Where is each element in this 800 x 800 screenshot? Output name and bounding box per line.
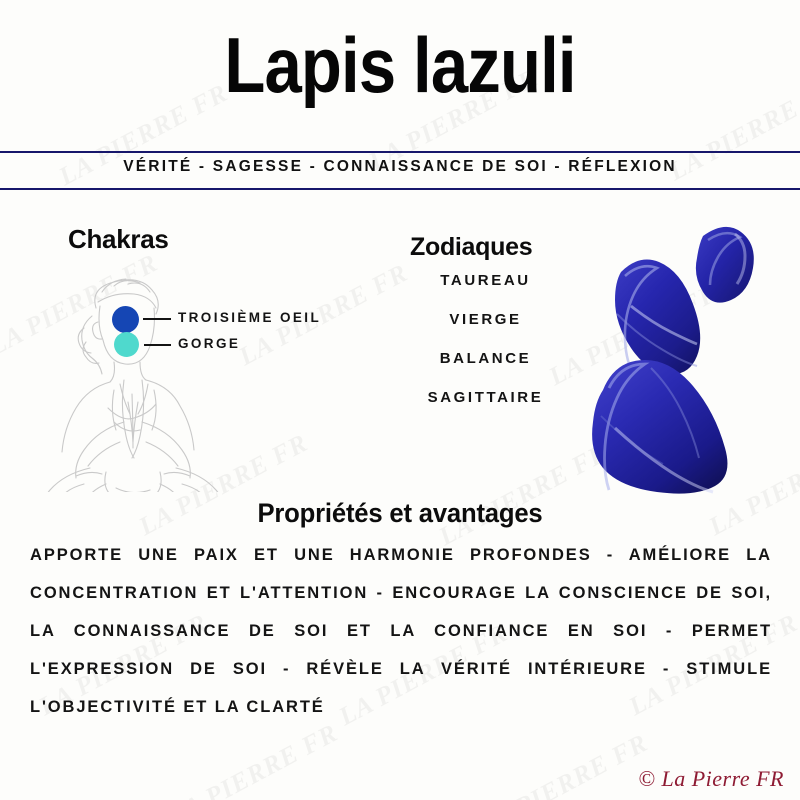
zodiac-heading: Zodiaques	[410, 233, 532, 262]
chakra-label-third-eye: TROISIÈME OEIL	[178, 310, 321, 325]
stone-teardrop-middle	[615, 260, 700, 378]
keywords-banner: VÉRITÉ - SAGESSE - CONNAISSANCE DE SOI -…	[0, 158, 800, 176]
infographic-page: LA PIERRE FR LA PIERRE FR LA PIERRE FR L…	[0, 0, 800, 800]
copyright-signature: © La Pierre FR	[638, 766, 784, 792]
chakra-label-throat: GORGE	[178, 336, 240, 351]
meditating-figure-illustration	[28, 262, 238, 492]
watermark-text: LA PIERRE FR	[164, 718, 343, 800]
zodiac-list: TAUREAU VIERGE BALANCE SAGITTAIRE	[378, 272, 593, 428]
divider-bottom	[0, 188, 800, 190]
stone-large-bottom	[592, 360, 727, 494]
zodiac-sign: BALANCE	[378, 350, 593, 367]
chakra-leader-line-throat	[144, 344, 171, 346]
watermark-text: LA PIERRE FR	[474, 728, 653, 800]
page-title: Lapis lazuli	[56, 26, 744, 104]
chakra-dot-third-eye	[112, 306, 139, 333]
chakras-heading: Chakras	[68, 224, 169, 255]
chakra-leader-line-third-eye	[143, 318, 171, 320]
lapis-lazuli-stones-photo	[565, 210, 800, 500]
properties-text: APPORTE UNE PAIX ET UNE HARMONIE PROFOND…	[30, 536, 772, 726]
divider-top	[0, 151, 800, 153]
zodiac-sign: SAGITTAIRE	[378, 389, 593, 406]
properties-heading: Propriétés et avantages	[20, 498, 780, 529]
zodiac-sign: TAUREAU	[378, 272, 593, 289]
zodiac-sign: VIERGE	[378, 311, 593, 328]
chakra-dot-throat	[114, 332, 139, 357]
stone-small-top-right	[696, 227, 754, 303]
